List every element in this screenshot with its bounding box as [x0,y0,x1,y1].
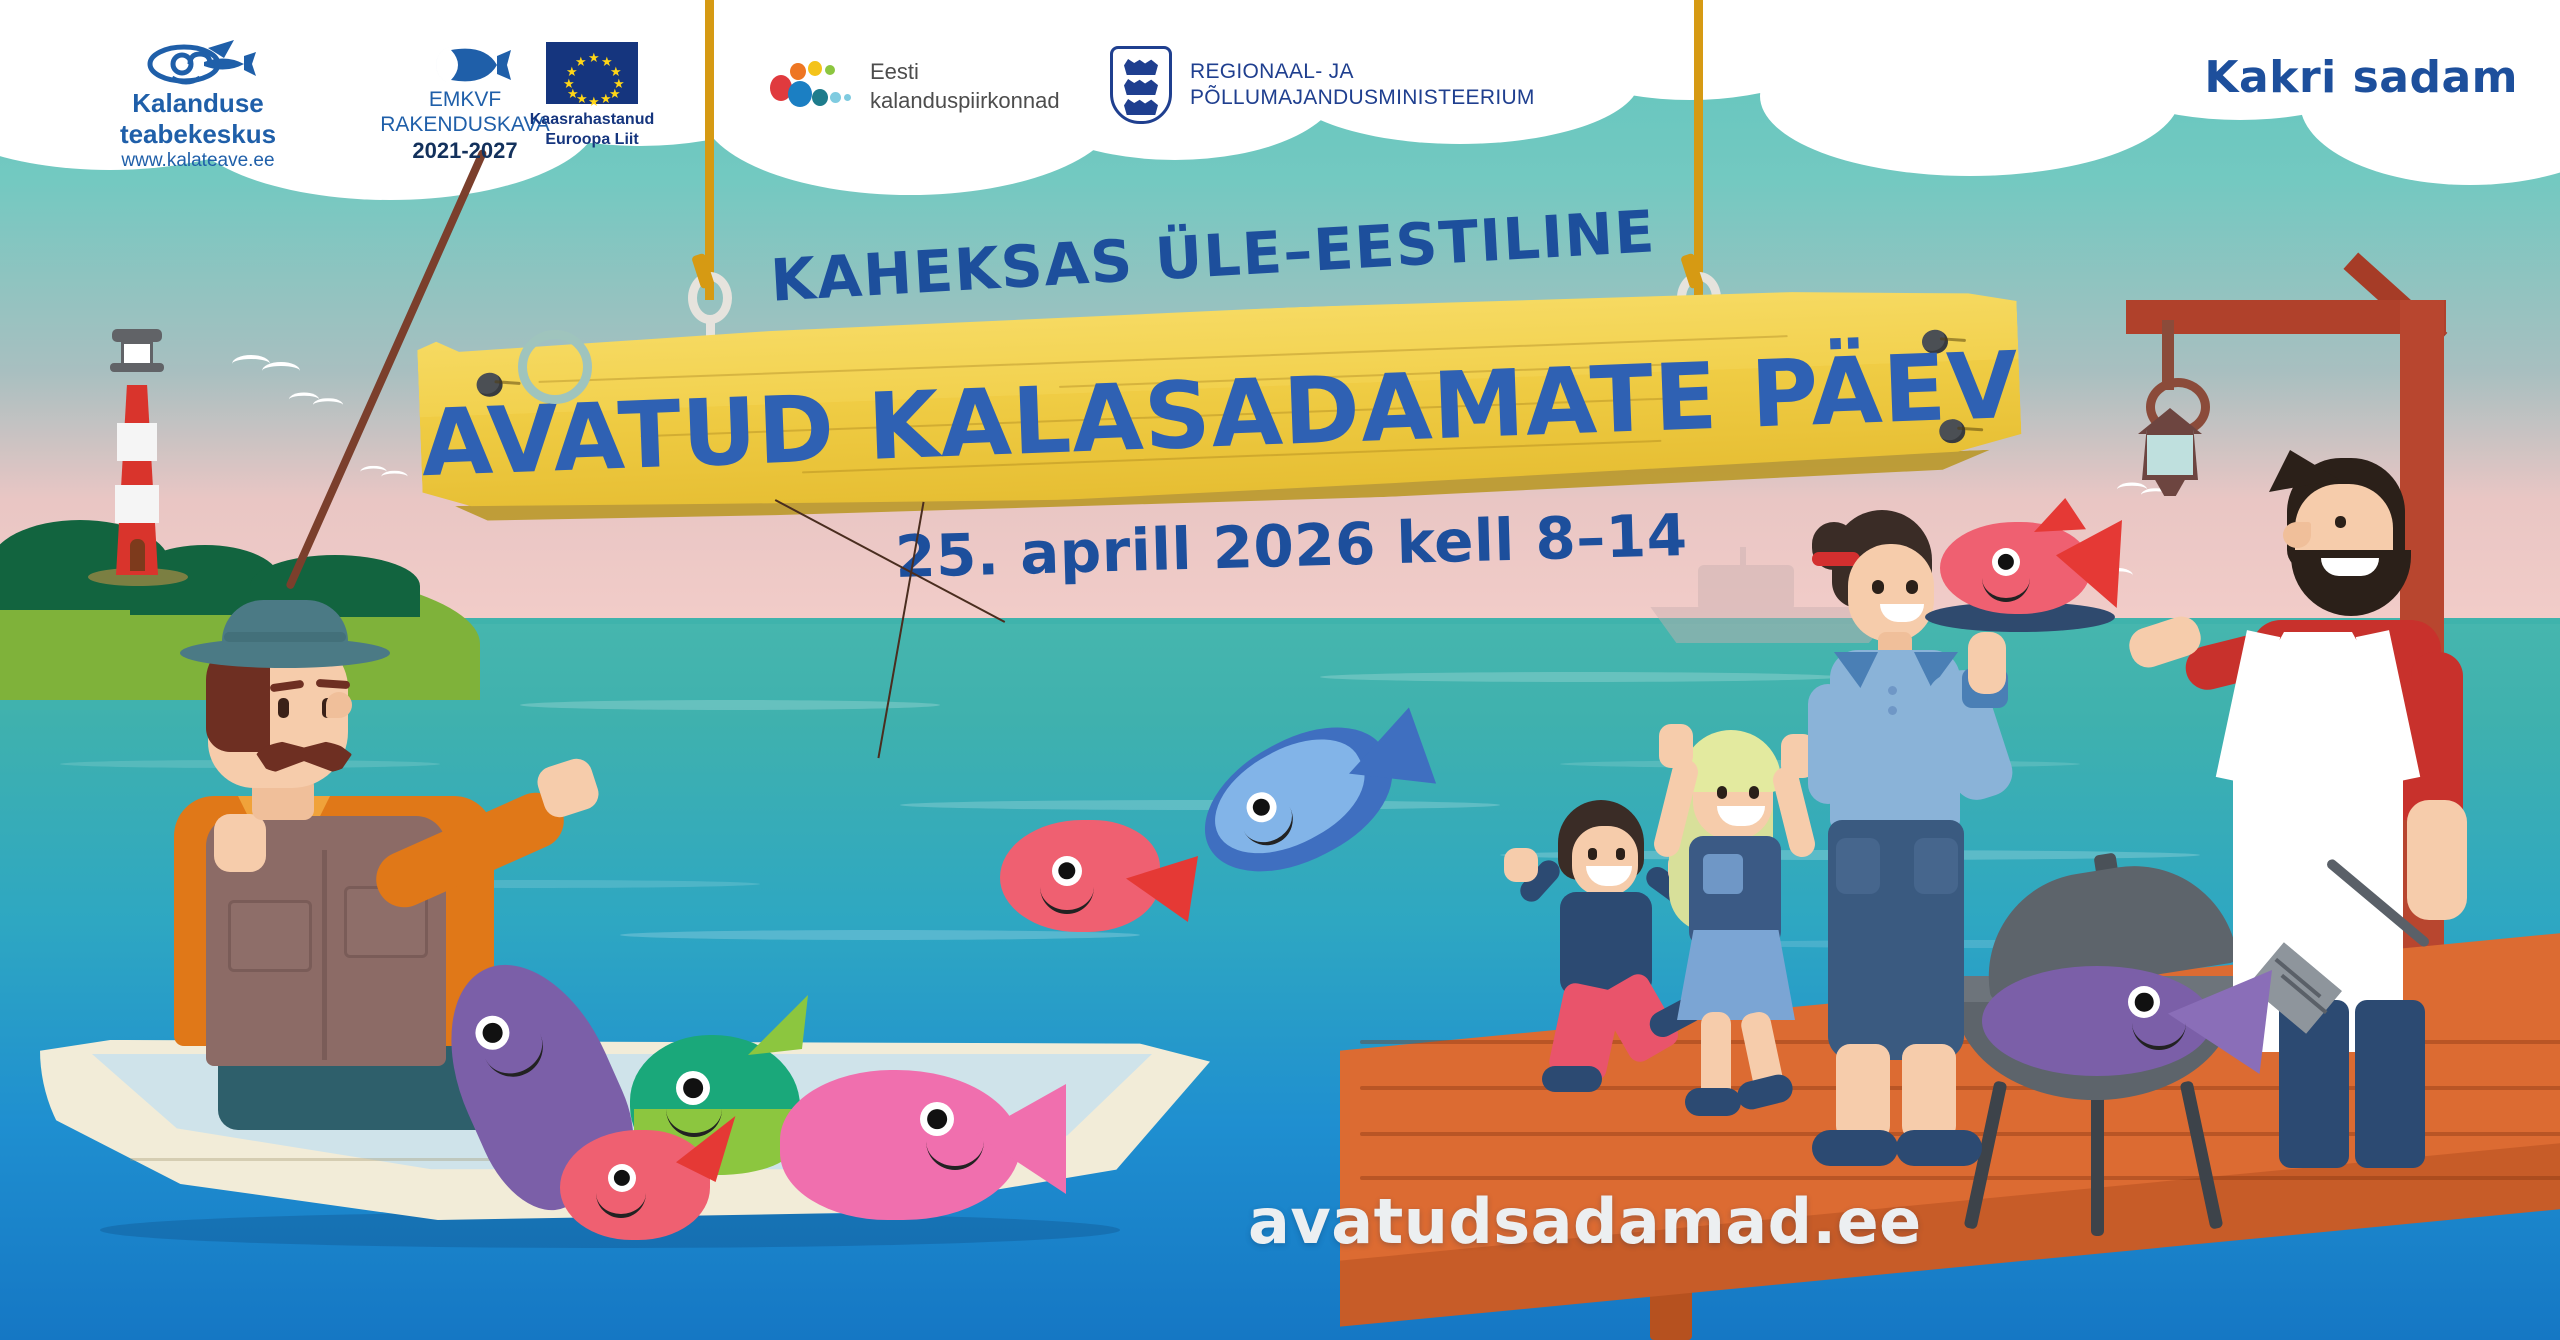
colored-dots-logo [770,61,856,113]
logo-url: www.kalateave.ee [78,150,318,172]
logo-line1: EMKVF [429,88,501,111]
title-main: AVATUD KALASADAMATE PÄEV [419,331,2021,497]
red-fish-boat [560,1130,750,1260]
fishing-reel [518,330,592,404]
logo-eesti-kalanduspiirkonnad[interactable]: Eesti kalanduspiirkonnad [770,58,1150,115]
poster-canvas: Kalanduse teabekeskus www.kalateave.ee E… [0,0,2560,1340]
red-fish-on-platter [1940,508,2120,618]
wave [1320,672,1840,682]
logo-line2: Euroopa Liit [545,131,638,148]
logo-kalanduse-teabekeskus[interactable]: Kalanduse teabekeskus www.kalateave.ee [78,38,318,172]
fisherman-hat [180,600,390,664]
seagull-icon [289,393,343,413]
lighthouse-icon [110,325,164,575]
logo-line1: REGIONAAL- JA [1190,59,1535,85]
harbour-name: Kakri sadam [2204,52,2518,103]
logo-line1: Kaasrahastanud [530,111,655,128]
purple-fish-on-grill [1982,956,2272,1096]
logo-line1: Eesti [870,58,1060,87]
logo-line2: PÕLLUMAJANDUSMINISTEERIUM [1190,85,1535,111]
red-fish-swimming [1000,820,1200,950]
eu-flag-icon: ★ ★ ★ ★ ★ ★ ★ ★ ★ ★ ★ ★ [546,42,638,104]
logo-ministry[interactable]: REGIONAAL- JA PÕLLUMAJANDUSMINISTEERIUM [1110,46,1670,124]
fish-at-symbol-logo [78,38,318,88]
pink-fish [780,1060,1050,1240]
website-url[interactable]: avatudsadamad.ee [1248,1185,1922,1258]
logo-strip: Kalanduse teabekeskus www.kalateave.ee E… [0,0,2560,190]
logo-eu-cofunded[interactable]: ★ ★ ★ ★ ★ ★ ★ ★ ★ ★ ★ ★ Kaasrahastanud E… [512,42,672,150]
estonian-coat-of-arms-icon [1110,46,1172,124]
seagull-icon [360,466,408,484]
logo-label: Kalanduse teabekeskus [78,88,318,150]
logo-line2: kalanduspiirkonnad [870,87,1060,116]
seagull-icon [232,355,300,380]
